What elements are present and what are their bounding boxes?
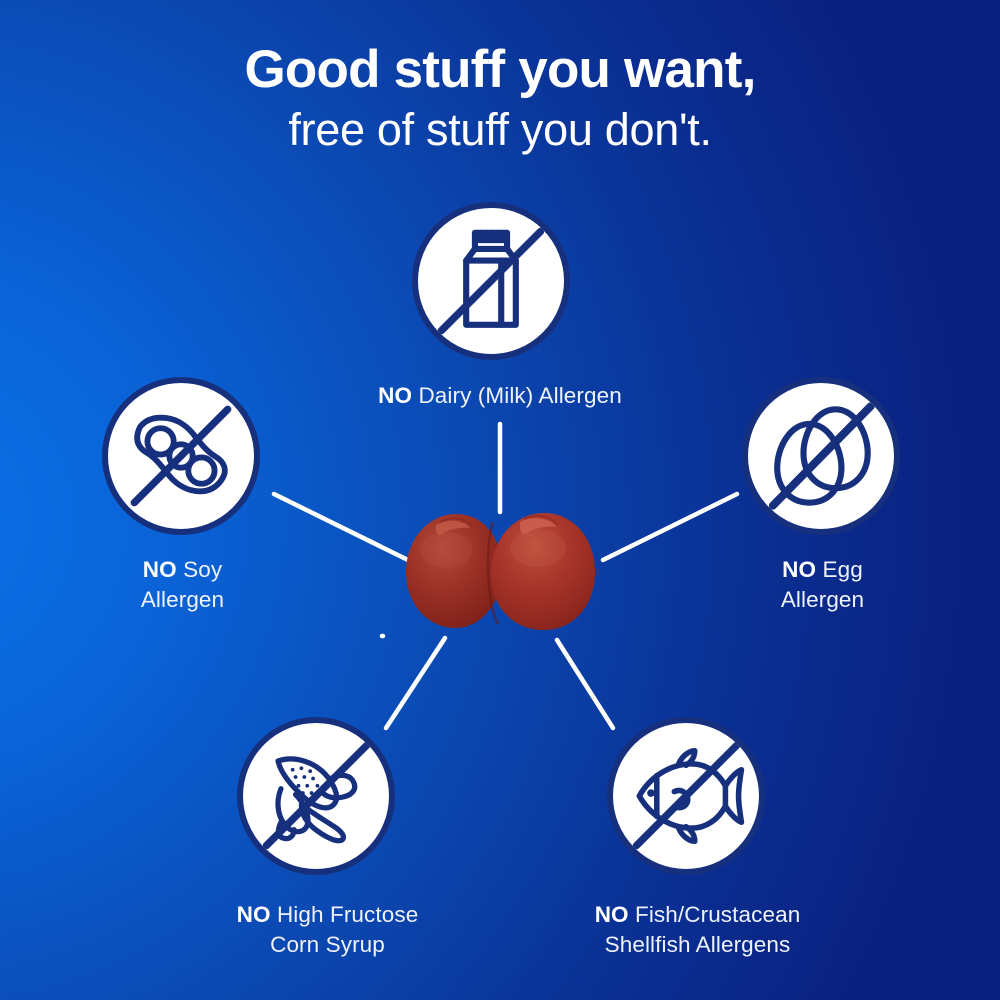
headline-secondary: free of stuff you don't. [0, 102, 1000, 158]
label-no-soy: NO Soy Allergen [60, 555, 305, 614]
infographic-canvas: Good stuff you want, free of stuff you d… [0, 0, 1000, 1000]
connector-fish-line [557, 640, 613, 728]
label-no-soy-text2: Allergen [141, 587, 224, 612]
badge-no-fish[interactable] [607, 717, 765, 875]
label-no-egg-prefix: NO [782, 557, 816, 582]
fish-icon [613, 723, 759, 869]
connector-soy [274, 494, 408, 560]
headline-primary: Good stuff you want, [0, 42, 1000, 98]
connector-corn-line [386, 638, 445, 728]
label-no-dairy-prefix: NO [378, 383, 412, 408]
badge-no-corn-syrup[interactable] [237, 717, 395, 875]
label-no-corn-syrup-text: High Fructose [271, 902, 419, 927]
label-no-egg-text2: Allergen [781, 587, 864, 612]
label-no-fish: NO Fish/Crustacean Shellfish Allergens [535, 900, 860, 959]
label-no-egg: NO Egg Allergen [700, 555, 945, 614]
label-no-corn-syrup-text2: Corn Syrup [270, 932, 385, 957]
two-cherry-gummies-image [398, 498, 603, 646]
connector-egg [603, 494, 737, 560]
badge-no-dairy[interactable] [412, 202, 570, 360]
page-title: Good stuff you want, free of stuff you d… [0, 42, 1000, 158]
label-no-corn-syrup: NO High Fructose Corn Syrup [165, 900, 490, 959]
label-no-fish-text: Fish/Crustacean [629, 902, 801, 927]
label-no-soy-text: Soy [177, 557, 222, 582]
label-no-egg-text: Egg [816, 557, 863, 582]
label-no-dairy: NO Dairy (Milk) Allergen [0, 381, 1000, 411]
label-no-fish-text2: Shellfish Allergens [605, 932, 791, 957]
label-no-fish-prefix: NO [595, 902, 629, 927]
label-no-dairy-text: Dairy (Milk) Allergen [412, 383, 622, 408]
label-no-soy-prefix: NO [143, 557, 177, 582]
label-no-corn-syrup-prefix: NO [237, 902, 271, 927]
product-gummies [398, 498, 603, 646]
milk-carton-icon [418, 208, 564, 354]
corn-cob-icon [243, 723, 389, 869]
